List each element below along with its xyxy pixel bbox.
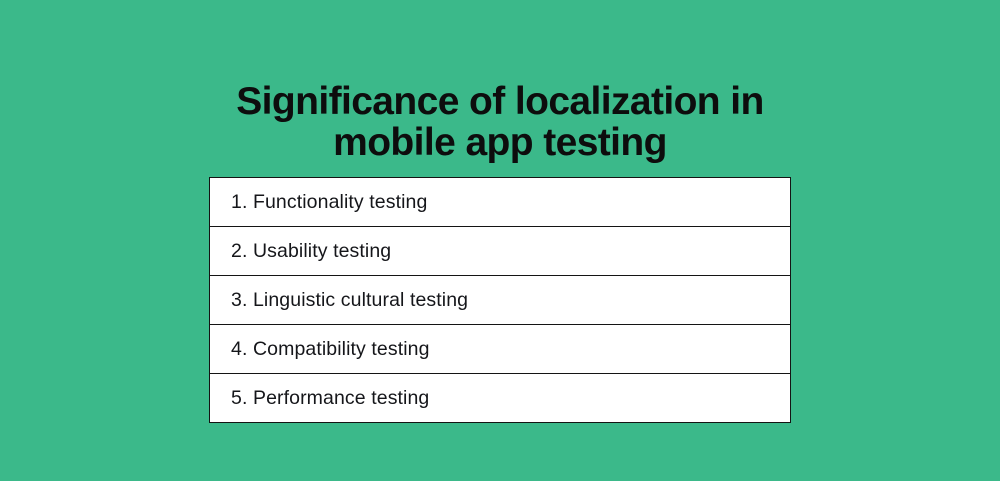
table-row: 4. Compatibility testing — [210, 325, 791, 374]
table-row: 2. Usability testing — [210, 227, 791, 276]
list-item-2: 2. Usability testing — [210, 227, 791, 276]
table-row: 5. Performance testing — [210, 374, 791, 423]
testing-types-table: 1. Functionality testing 2. Usability te… — [209, 177, 791, 423]
list-item-1: 1. Functionality testing — [210, 178, 791, 227]
table-body: 1. Functionality testing 2. Usability te… — [210, 178, 791, 423]
list-item-3: 3. Linguistic cultural testing — [210, 276, 791, 325]
table-row: 1. Functionality testing — [210, 178, 791, 227]
slide-canvas: Significance of localization in mobile a… — [0, 0, 1000, 481]
list-item-4: 4. Compatibility testing — [210, 325, 791, 374]
page-title: Significance of localization in mobile a… — [0, 81, 1000, 163]
list-item-5: 5. Performance testing — [210, 374, 791, 423]
table-row: 3. Linguistic cultural testing — [210, 276, 791, 325]
